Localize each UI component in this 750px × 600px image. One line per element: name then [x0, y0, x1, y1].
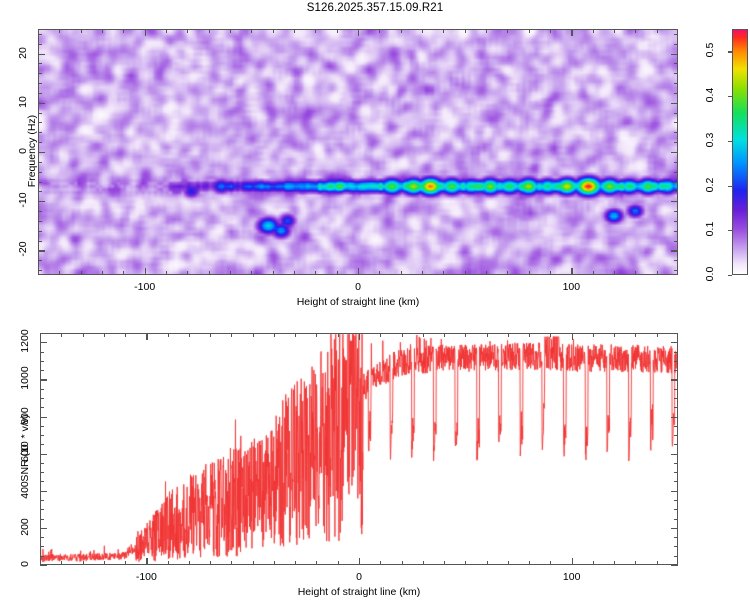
axis-tick	[294, 29, 295, 33]
axis-tick	[315, 271, 316, 275]
axis-tick	[123, 29, 124, 33]
axis-tick	[38, 221, 42, 222]
axis-tick	[423, 333, 424, 337]
axis-tick	[61, 561, 62, 565]
axis-tick	[465, 333, 466, 337]
axis-tick	[380, 561, 381, 565]
axis-tick	[465, 271, 466, 275]
axis-tick-label: 100	[563, 571, 581, 583]
axis-tick	[40, 509, 44, 510]
axis-tick	[38, 172, 42, 173]
axis-tick	[125, 561, 126, 565]
axis-tick	[38, 191, 42, 192]
axis-tick	[38, 103, 45, 104]
axis-tick	[359, 333, 360, 340]
axis-tick	[508, 561, 509, 565]
axis-tick	[674, 463, 678, 464]
axis-tick	[38, 201, 45, 202]
axis-tick	[674, 519, 678, 520]
axis-tick-label: 1200	[19, 326, 31, 356]
axis-tick	[674, 389, 678, 390]
snr-frame	[40, 333, 678, 565]
axis-tick	[671, 454, 678, 455]
axis-tick	[146, 333, 147, 340]
axis-tick	[38, 132, 42, 133]
axis-tick	[593, 333, 594, 337]
axis-tick	[674, 93, 678, 94]
axis-tick	[337, 29, 338, 33]
axis-tick	[38, 93, 42, 94]
axis-tick	[572, 333, 573, 340]
axis-tick	[674, 361, 678, 362]
axis-tick-label: 0	[19, 549, 31, 579]
axis-tick	[81, 271, 82, 275]
axis-tick	[674, 113, 678, 114]
axis-tick	[40, 546, 44, 547]
spectrogram-y-axis-label: Frequency (Hz)	[26, 71, 38, 231]
axis-tick	[38, 44, 42, 45]
axis-tick	[402, 333, 403, 337]
axis-tick	[635, 561, 636, 565]
colorbar-tick-label: 0.5	[704, 36, 716, 64]
spectrogram-frame	[38, 29, 678, 275]
axis-tick	[614, 29, 615, 33]
axis-tick	[230, 29, 231, 33]
axis-tick	[40, 361, 44, 362]
axis-tick	[38, 152, 45, 153]
axis-tick	[40, 398, 44, 399]
axis-tick-label: -100	[136, 571, 157, 583]
axis-tick	[635, 271, 636, 275]
axis-tick	[168, 561, 169, 565]
axis-tick	[40, 417, 47, 418]
axis-tick	[674, 241, 678, 242]
axis-tick	[38, 54, 45, 55]
axis-tick	[674, 142, 678, 143]
axis-tick	[81, 29, 82, 33]
axis-tick	[104, 561, 105, 565]
axis-tick	[38, 182, 42, 183]
axis-tick	[251, 271, 252, 275]
axis-tick	[338, 561, 339, 565]
axis-tick	[274, 561, 275, 565]
axis-tick	[59, 29, 60, 33]
colorbar-gradient-fill	[733, 30, 747, 274]
axis-tick	[38, 122, 42, 123]
axis-tick	[674, 260, 678, 261]
axis-tick	[465, 561, 466, 565]
axis-tick	[614, 561, 615, 565]
axis-tick	[671, 103, 678, 104]
axis-tick	[674, 509, 678, 510]
axis-tick	[38, 162, 42, 163]
axis-tick	[40, 565, 47, 566]
axis-tick	[550, 333, 551, 337]
axis-tick	[40, 500, 44, 501]
axis-tick	[671, 565, 678, 566]
axis-tick	[674, 435, 678, 436]
axis-tick	[379, 271, 380, 275]
axis-tick	[40, 519, 44, 520]
axis-tick	[38, 260, 42, 261]
axis-tick	[38, 211, 42, 212]
axis-tick	[358, 29, 359, 36]
axis-tick	[166, 29, 167, 33]
axis-tick	[508, 333, 509, 337]
colorbar-tick-label: 0.0	[704, 260, 716, 288]
axis-tick	[40, 379, 47, 380]
axis-tick	[189, 333, 190, 337]
axis-tick-label: 0	[356, 571, 362, 583]
axis-tick	[38, 113, 42, 114]
axis-tick	[401, 29, 402, 33]
axis-tick	[358, 268, 359, 275]
axis-tick	[674, 122, 678, 123]
axis-tick	[614, 333, 615, 337]
axis-tick-label: 0	[355, 281, 361, 293]
axis-tick	[38, 250, 45, 251]
axis-tick	[674, 231, 678, 232]
axis-tick	[674, 211, 678, 212]
axis-tick	[187, 271, 188, 275]
spectrogram-x-axis-label: Height of straight line (km)	[297, 296, 420, 308]
axis-tick	[674, 132, 678, 133]
snr-y-axis-label: SNR (10 * v/v)	[19, 368, 31, 528]
axis-tick	[230, 271, 231, 275]
axis-tick	[529, 561, 530, 565]
axis-tick	[671, 417, 678, 418]
axis-tick	[657, 271, 658, 275]
colorbar-gradient	[732, 29, 748, 275]
axis-tick	[104, 333, 105, 337]
snr-x-axis-label: Height of straight line (km)	[298, 586, 421, 598]
axis-tick	[674, 472, 678, 473]
axis-tick	[359, 558, 360, 565]
axis-tick	[529, 271, 530, 275]
axis-tick	[40, 426, 44, 427]
axis-tick	[550, 29, 551, 33]
axis-tick	[550, 271, 551, 275]
axis-tick	[38, 83, 42, 84]
axis-tick	[593, 561, 594, 565]
axis-tick	[380, 333, 381, 337]
axis-tick	[674, 221, 678, 222]
figure-canvas: S126.2025.357.15.09.R21 -1000100 20100-1…	[0, 0, 750, 600]
axis-tick	[674, 500, 678, 501]
axis-tick-label: 100	[563, 281, 581, 293]
axis-tick	[102, 29, 103, 33]
axis-tick	[671, 379, 678, 380]
axis-tick	[674, 63, 678, 64]
axis-tick	[40, 389, 44, 390]
axis-tick	[251, 29, 252, 33]
axis-tick	[657, 29, 658, 33]
axis-tick	[40, 537, 44, 538]
axis-tick	[338, 333, 339, 337]
axis-tick	[674, 370, 678, 371]
axis-tick	[443, 271, 444, 275]
axis-tick-label: -100	[134, 281, 155, 293]
axis-tick	[209, 29, 210, 33]
axis-tick	[674, 73, 678, 74]
axis-tick	[674, 270, 678, 271]
axis-tick	[40, 556, 44, 557]
axis-tick	[657, 561, 658, 565]
axis-tick	[487, 333, 488, 337]
axis-tick	[209, 271, 210, 275]
colorbar-tick	[728, 51, 732, 52]
axis-tick	[274, 333, 275, 337]
axis-tick	[315, 29, 316, 33]
axis-tick	[674, 426, 678, 427]
axis-tick	[38, 270, 42, 271]
axis-tick	[671, 342, 678, 343]
axis-tick	[38, 231, 42, 232]
axis-tick	[671, 201, 678, 202]
colorbar-tick-label: 0.2	[704, 171, 716, 199]
axis-tick	[402, 561, 403, 565]
axis-tick	[674, 182, 678, 183]
axis-tick	[59, 271, 60, 275]
axis-tick	[674, 172, 678, 173]
axis-tick	[316, 561, 317, 565]
axis-tick	[635, 333, 636, 337]
axis-tick	[40, 481, 44, 482]
axis-tick	[444, 561, 445, 565]
axis-tick	[123, 271, 124, 275]
colorbar-tick-label: 0.3	[704, 126, 716, 154]
axis-tick	[38, 73, 42, 74]
axis-tick	[210, 561, 211, 565]
axis-tick	[61, 333, 62, 337]
colorbar-tick	[728, 96, 732, 97]
axis-tick	[40, 370, 44, 371]
snr-panel: -1000100 020040060080010001200 Height of…	[40, 333, 678, 565]
colorbar-tick-label: 0.1	[704, 215, 716, 243]
axis-tick	[294, 271, 295, 275]
axis-tick	[674, 407, 678, 408]
axis-tick	[671, 528, 678, 529]
axis-tick	[674, 546, 678, 547]
axis-tick	[40, 352, 44, 353]
axis-tick	[40, 342, 47, 343]
axis-tick	[38, 63, 42, 64]
axis-tick	[38, 34, 42, 35]
axis-tick	[671, 152, 678, 153]
axis-tick	[674, 481, 678, 482]
axis-tick	[423, 561, 424, 565]
axis-tick	[295, 333, 296, 337]
axis-tick	[210, 333, 211, 337]
axis-tick	[189, 561, 190, 565]
axis-tick	[529, 333, 530, 337]
axis-tick	[444, 333, 445, 337]
axis-tick	[486, 29, 487, 33]
axis-tick	[125, 333, 126, 337]
spectrogram-panel: -1000100 20100-10-20 Height of straight …	[38, 29, 678, 275]
axis-tick	[550, 561, 551, 565]
axis-tick	[40, 454, 47, 455]
axis-tick	[674, 44, 678, 45]
axis-tick	[40, 407, 44, 408]
axis-tick	[674, 398, 678, 399]
axis-tick	[486, 271, 487, 275]
axis-tick	[40, 472, 44, 473]
figure-title: S126.2025.357.15.09.R21	[0, 2, 750, 14]
axis-tick	[253, 333, 254, 337]
axis-tick	[273, 29, 274, 33]
axis-tick	[166, 271, 167, 275]
axis-tick	[674, 162, 678, 163]
axis-tick	[671, 491, 678, 492]
axis-tick	[38, 241, 42, 242]
axis-tick	[674, 191, 678, 192]
axis-tick	[507, 271, 508, 275]
axis-tick	[40, 528, 47, 529]
axis-tick	[40, 444, 44, 445]
axis-tick	[337, 271, 338, 275]
axis-tick	[102, 271, 103, 275]
axis-tick	[83, 333, 84, 337]
axis-tick	[443, 29, 444, 33]
axis-tick	[145, 29, 146, 36]
axis-tick	[40, 435, 44, 436]
axis-tick	[187, 29, 188, 33]
axis-tick	[674, 34, 678, 35]
axis-tick	[40, 491, 47, 492]
axis-tick	[40, 463, 44, 464]
axis-tick	[146, 558, 147, 565]
colorbar-tick-label: 0.4	[704, 81, 716, 109]
axis-tick	[38, 142, 42, 143]
axis-tick	[231, 333, 232, 337]
axis-tick	[422, 271, 423, 275]
axis-tick-label: 20	[17, 42, 29, 64]
axis-tick	[674, 537, 678, 538]
axis-tick	[507, 29, 508, 33]
axis-tick	[614, 271, 615, 275]
axis-tick	[635, 29, 636, 33]
axis-tick	[253, 561, 254, 565]
axis-tick	[671, 250, 678, 251]
axis-tick	[571, 29, 572, 36]
axis-tick	[231, 561, 232, 565]
axis-tick	[674, 444, 678, 445]
axis-tick	[529, 29, 530, 33]
axis-tick	[379, 29, 380, 33]
axis-tick	[422, 29, 423, 33]
axis-tick	[571, 268, 572, 275]
axis-tick	[168, 333, 169, 337]
colorbar-tick	[728, 230, 732, 231]
axis-tick	[671, 54, 678, 55]
axis-tick	[316, 333, 317, 337]
axis-tick	[593, 271, 594, 275]
axis-tick	[674, 83, 678, 84]
colorbar-tick	[728, 141, 732, 142]
axis-tick	[465, 29, 466, 33]
axis-tick	[83, 561, 84, 565]
axis-tick	[572, 558, 573, 565]
axis-tick	[674, 352, 678, 353]
axis-tick	[401, 271, 402, 275]
axis-tick	[593, 29, 594, 33]
colorbar-tick	[728, 275, 732, 276]
axis-tick	[295, 561, 296, 565]
axis-tick	[674, 556, 678, 557]
axis-tick	[145, 268, 146, 275]
colorbar-tick	[728, 186, 732, 187]
axis-tick	[657, 333, 658, 337]
axis-tick-label: -20	[17, 238, 29, 260]
axis-tick	[487, 561, 488, 565]
axis-tick	[273, 271, 274, 275]
